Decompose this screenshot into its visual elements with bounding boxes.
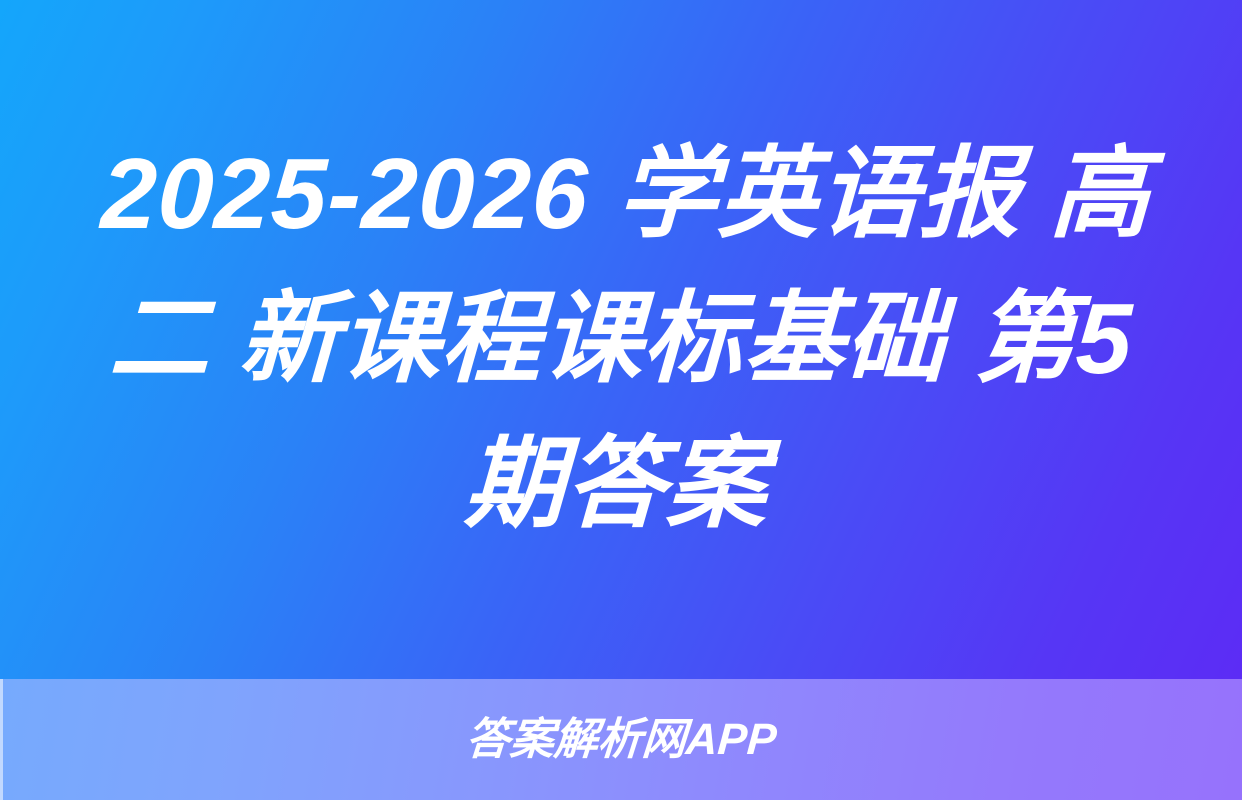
footer-brand-band: 答案解析网APP (0, 679, 1242, 800)
brand-watermark-text: 答案解析网APP (464, 718, 778, 762)
title-block: 2025-2026 学英语报 高二 新课程课标基础 第5期答案 (0, 0, 1242, 679)
poster-title: 2025-2026 学英语报 高二 新课程课标基础 第5期答案 (58, 122, 1183, 557)
poster-image: 2025-2026 学英语报 高二 新课程课标基础 第5期答案 答案解析网APP (0, 0, 1242, 800)
